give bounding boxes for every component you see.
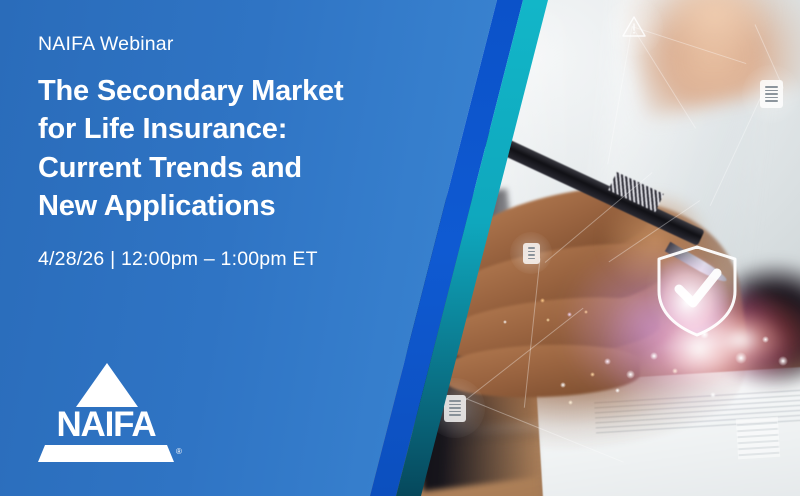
sparkle	[568, 400, 573, 405]
sparkle	[672, 368, 678, 374]
logo-wordmark: NAIFA	[38, 405, 174, 445]
eyebrow-label: NAIFA Webinar	[38, 33, 174, 56]
photo-chin	[660, 0, 770, 60]
sparkle	[778, 356, 788, 366]
document-node	[510, 232, 552, 274]
document-icon	[760, 80, 783, 108]
document-icon	[444, 395, 466, 422]
sparkle	[590, 372, 595, 377]
sparkle	[700, 330, 709, 339]
logo-triangle-icon	[76, 363, 138, 407]
sparkle	[503, 320, 507, 324]
sparkle	[735, 352, 747, 364]
sparkle	[650, 352, 658, 360]
warning-triangle-icon	[621, 15, 647, 39]
shield-halo	[645, 235, 749, 347]
warning-triangle-node	[605, 0, 663, 56]
sparkle	[546, 318, 550, 322]
headline-line-1: The Secondary Market	[38, 72, 343, 110]
headline-line-4: New Applications	[38, 187, 343, 225]
logo-base-shape	[38, 445, 174, 462]
document-node	[742, 65, 800, 123]
document-icon	[523, 243, 540, 264]
sparkle	[540, 298, 545, 303]
sparkle	[615, 388, 620, 393]
sparkle	[626, 370, 635, 379]
headline-line-2: for Life Insurance:	[38, 110, 343, 148]
sparkle	[560, 382, 566, 388]
event-datetime: 4/28/26 | 12:00pm – 1:00pm ET	[38, 248, 318, 271]
sparkle	[710, 392, 716, 398]
page-title: The Secondary Market for Life Insurance:…	[38, 72, 343, 225]
headline-line-3: Current Trends and	[38, 149, 343, 187]
sparkle	[762, 336, 769, 343]
sparkle	[567, 312, 572, 317]
shield-node	[645, 235, 749, 347]
webinar-promo-banner: NAIFA Webinar The Secondary Market for L…	[0, 0, 800, 496]
sparkle	[584, 310, 588, 314]
naifa-logo: NAIFA ®	[38, 363, 174, 459]
registered-trademark-icon: ®	[176, 448, 182, 456]
sparkle	[604, 358, 611, 365]
